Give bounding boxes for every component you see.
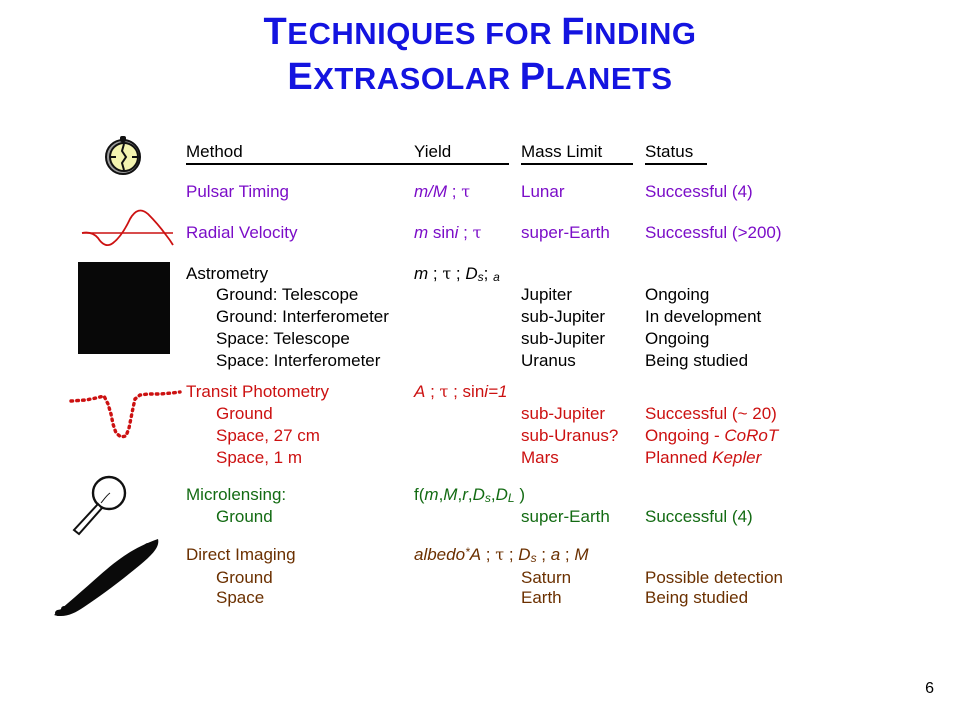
techniques-table: Method Yield Mass Limit Status Pulsar Ti… [0, 0, 960, 720]
subrow-status: Ongoing [645, 285, 709, 305]
yield-token-sep2: ; [451, 264, 465, 283]
subrow-method: Ground: Telescope [216, 285, 358, 305]
slide: TECHNIQUES FOR FINDING EXTRASOLAR PLANET… [0, 0, 960, 720]
yield-token-sep: ; [458, 223, 472, 242]
subrow-status: Ongoing [645, 329, 709, 349]
yield-token-bigd: D [465, 264, 477, 283]
table-row: Space, 27 cm sub-Uranus? Ongoing - CoRoT [0, 426, 960, 447]
subrow-status-text: Planned [645, 448, 712, 467]
table-row: Radial Velocity m sini ; τ super-Earth S… [0, 223, 960, 244]
yield-token-tau: τ [473, 223, 482, 242]
status-radial-velocity: Successful (>200) [645, 223, 782, 243]
yield-token-sep1: ; [481, 545, 495, 564]
subrow-mass-limit: sub-Uranus? [521, 426, 618, 446]
yield-token-bigd-l: D [496, 485, 508, 504]
yield-token-biga: A [414, 382, 425, 401]
subrow-status-mission: CoRoT [724, 426, 778, 445]
yield-token-close: ) [515, 485, 525, 504]
yield-token-sep4: ; [560, 545, 574, 564]
subrow-status-text: Ongoing - [645, 426, 724, 445]
table-row: Space: Telescope sub-Jupiter Ongoing [0, 329, 960, 350]
subrow-method: Ground [216, 507, 273, 527]
subrow-mass-limit: Mars [521, 448, 559, 468]
yield-token-sin: sin [463, 382, 485, 401]
page-number: 6 [925, 680, 934, 698]
table-header-row: Method Yield Mass Limit Status [0, 142, 960, 163]
yield-token-bigm: M [433, 182, 447, 201]
yield-token-bigd-s: D [473, 485, 485, 504]
subrow-status: Possible detection [645, 568, 783, 588]
subrow-mass-limit: super-Earth [521, 507, 610, 527]
yield-token-eq1: =1 [488, 382, 507, 401]
yield-microlensing: f(m,M,r,Ds,DL ) [414, 485, 525, 505]
subrow-mass-limit: Uranus [521, 351, 576, 371]
yield-token-sep2: ; [448, 382, 462, 401]
table-row: Pulsar Timing m/M ; τ Lunar Successful (… [0, 182, 960, 203]
yield-token-tau: τ [442, 264, 451, 283]
subrow-method: Ground [216, 404, 273, 424]
method-pulsar-timing: Pulsar Timing [186, 182, 289, 202]
yield-token-f: f( [414, 485, 424, 504]
yield-token-bigd: D [518, 545, 530, 564]
table-row: Ground super-Earth Successful (4) [0, 507, 960, 528]
yield-token-sep2: ; [504, 545, 518, 564]
yield-token-bigm2: M [574, 545, 588, 564]
yield-token-sub-l: L [508, 491, 515, 505]
table-row: Ground: Telescope Jupiter Ongoing [0, 285, 960, 306]
table-row: Ground: Interferometer sub-Jupiter In de… [0, 307, 960, 328]
yield-transit-photometry: A ; τ ; sini=1 [414, 382, 507, 402]
table-row: Space: Interferometer Uranus Being studi… [0, 351, 960, 372]
column-header-mass-limit: Mass Limit [521, 142, 633, 165]
column-header-method: Method [186, 142, 421, 165]
yield-token-a: a [493, 270, 500, 284]
column-header-status: Status [645, 142, 707, 165]
method-direct-imaging: Direct Imaging [186, 545, 296, 565]
method-microlensing: Microlensing: [186, 485, 286, 505]
method-radial-velocity: Radial Velocity [186, 223, 298, 243]
subrow-mass-limit: sub-Jupiter [521, 307, 605, 327]
yield-token-m: m [414, 223, 428, 242]
table-row: Transit Photometry A ; τ ; sini=1 [0, 382, 960, 403]
subrow-status: Successful (4) [645, 507, 753, 527]
yield-token-sep3: ; [537, 545, 551, 564]
table-row: Astrometry m ; τ ; Ds; a [0, 264, 960, 285]
subrow-status: Successful (~ 20) [645, 404, 777, 424]
subrow-method: Ground [216, 568, 273, 588]
yield-direct-imaging: albedo*A ; τ ; Ds ; a ; M [414, 545, 589, 565]
yield-token-sep: ; [447, 182, 461, 201]
yield-token-sep3: ; [484, 264, 493, 283]
subrow-status-text: Successful (~ 20) [645, 404, 777, 423]
subrow-status: Planned Kepler [645, 448, 761, 468]
yield-radial-velocity: m sini ; τ [414, 223, 481, 243]
subrow-status: In development [645, 307, 761, 327]
subrow-status: Being studied [645, 588, 748, 608]
table-row: Space Earth Being studied [0, 588, 960, 609]
method-transit-photometry: Transit Photometry [186, 382, 329, 402]
yield-token-sin: sin [428, 223, 454, 242]
yield-token-m: m [424, 485, 438, 504]
table-row: Space, 1 m Mars Planned Kepler [0, 448, 960, 469]
mass-limit-radial-velocity: super-Earth [521, 223, 610, 243]
subrow-method: Space, 1 m [216, 448, 302, 468]
table-row: Microlensing: f(m,M,r,Ds,DL ) [0, 485, 960, 506]
subrow-method: Space [216, 588, 264, 608]
yield-astrometry: m ; τ ; Ds; a [414, 264, 500, 284]
status-pulsar-timing: Successful (4) [645, 182, 753, 202]
subrow-mass-limit: Saturn [521, 568, 571, 588]
yield-token-bigm: M [443, 485, 457, 504]
yield-token-sep1: ; [428, 264, 442, 283]
yield-pulsar-timing: m/M ; τ [414, 182, 470, 202]
yield-token-tau: τ [461, 182, 470, 201]
table-row: Ground Saturn Possible detection [0, 568, 960, 589]
subrow-method: Space: Telescope [216, 329, 350, 349]
subrow-mass-limit: sub-Jupiter [521, 404, 605, 424]
subrow-method: Space: Interferometer [216, 351, 380, 371]
subrow-status: Ongoing - CoRoT [645, 426, 778, 446]
column-header-yield: Yield [414, 142, 509, 165]
yield-token-biga: A [470, 545, 481, 564]
subrow-status: Being studied [645, 351, 748, 371]
table-row: Ground sub-Jupiter Successful (~ 20) [0, 404, 960, 425]
subrow-method: Ground: Interferometer [216, 307, 389, 327]
subrow-mass-limit: Jupiter [521, 285, 572, 305]
subrow-mass-limit: Earth [521, 588, 562, 608]
yield-token-albedo: albedo [414, 545, 465, 564]
yield-token-a: a [551, 545, 560, 564]
subrow-method: Space, 27 cm [216, 426, 320, 446]
subrow-status-mission: Kepler [712, 448, 761, 467]
table-row: Direct Imaging albedo*A ; τ ; Ds ; a ; M [0, 545, 960, 566]
yield-token-sep1: ; [425, 382, 439, 401]
mass-limit-pulsar-timing: Lunar [521, 182, 564, 202]
subrow-mass-limit: sub-Jupiter [521, 329, 605, 349]
yield-token-tau: τ [495, 545, 504, 564]
yield-token-m: m [414, 264, 428, 283]
method-astrometry: Astrometry [186, 264, 268, 284]
yield-token-m: m [414, 182, 428, 201]
